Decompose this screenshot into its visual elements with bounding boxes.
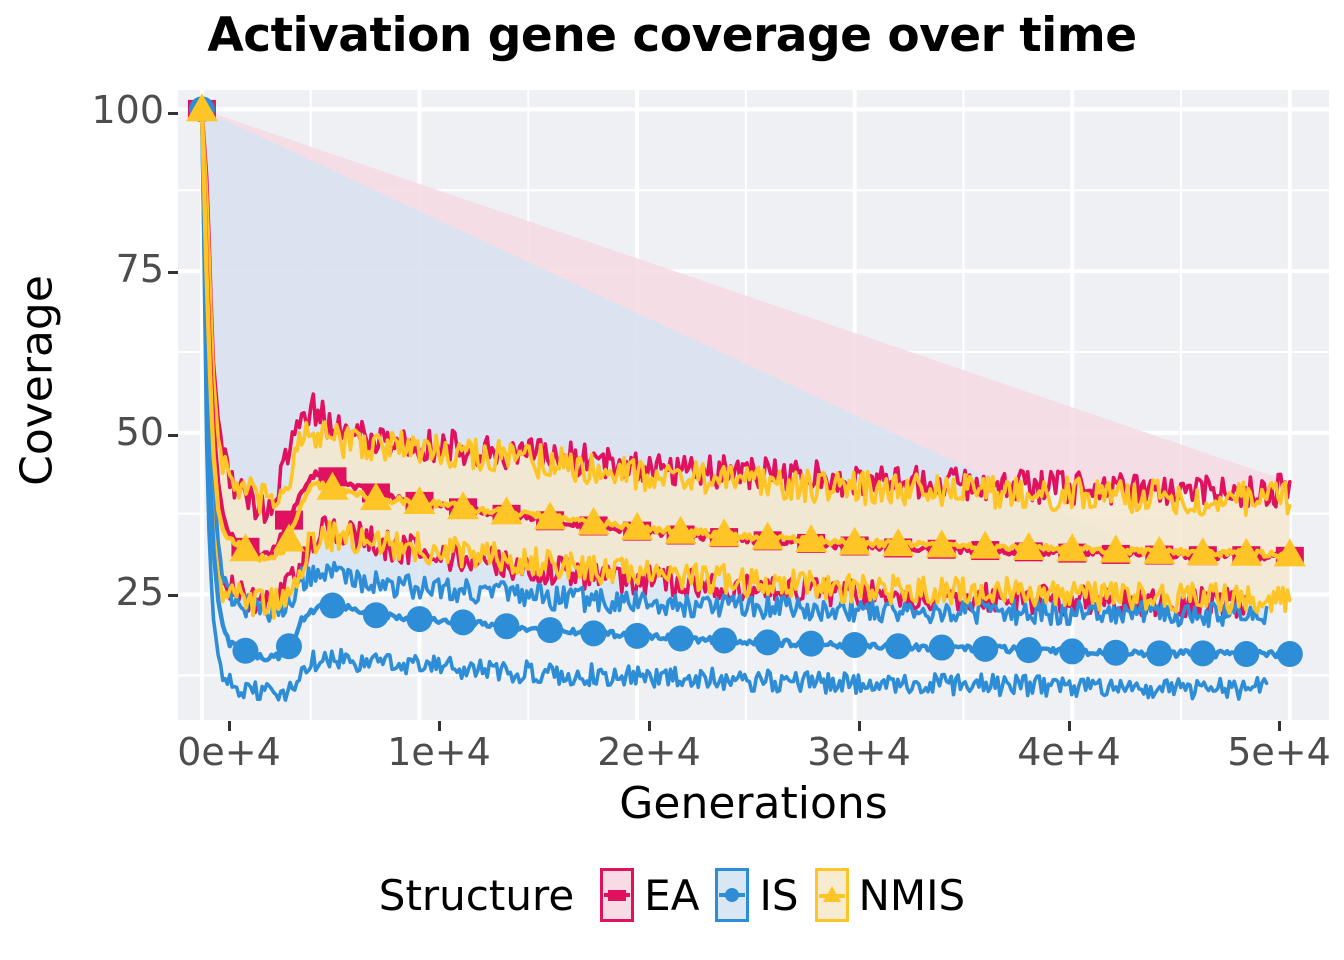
x-tick-label-4: 4e+4 <box>969 730 1169 774</box>
x-axis-title: Generations <box>178 778 1329 829</box>
x-tick-label-0: 0e+4 <box>129 730 329 774</box>
legend-label-nmis: NMIS <box>859 871 966 920</box>
data-marker-circle <box>798 631 824 657</box>
data-marker-circle <box>276 633 302 659</box>
data-marker-circle <box>668 626 694 652</box>
legend-entry-nmis[interactable]: NMIS <box>815 868 966 922</box>
data-marker-circle <box>711 627 737 653</box>
data-marker-circle <box>537 617 563 643</box>
x-tick-label-2: 2e+4 <box>549 730 749 774</box>
y-tick-mark-50 <box>168 434 178 437</box>
x-tick-label-3: 3e+4 <box>759 730 959 774</box>
y-tick-mark-25 <box>168 594 178 597</box>
x-tick-mark-0 <box>228 721 231 731</box>
data-marker-circle <box>1146 640 1172 666</box>
data-marker-circle <box>407 606 433 632</box>
data-marker-circle <box>885 633 911 659</box>
y-tick-mark-100 <box>168 112 178 115</box>
x-tick-label-1: 1e+4 <box>339 730 539 774</box>
data-marker-circle <box>319 593 345 619</box>
x-tick-label-5: 5e+4 <box>1179 730 1344 774</box>
data-marker-circle <box>624 623 650 649</box>
data-marker-circle <box>450 609 476 635</box>
x-tick-mark-3 <box>858 721 861 731</box>
x-tick-mark-1 <box>438 721 441 731</box>
legend: Structure EA IS <box>0 868 1344 922</box>
data-marker-circle <box>755 629 781 655</box>
data-marker-circle <box>1277 641 1303 667</box>
square-marker-icon <box>604 882 630 908</box>
circle-marker-icon <box>719 882 745 908</box>
legend-key-ea <box>600 868 634 922</box>
data-marker-circle <box>581 620 607 646</box>
data-marker-circle <box>494 613 520 639</box>
legend-label-is: IS <box>759 871 798 920</box>
data-marker-circle <box>842 632 868 658</box>
x-tick-mark-4 <box>1068 721 1071 731</box>
data-marker-circle <box>929 635 955 661</box>
data-marker-circle <box>363 602 389 628</box>
legend-key-is <box>715 868 749 922</box>
y-axis-title: Coverage <box>12 131 63 631</box>
legend-entry-ea[interactable]: EA <box>600 868 699 922</box>
data-marker-circle <box>232 638 258 664</box>
legend-entry-is[interactable]: IS <box>715 868 798 922</box>
data-marker-circle <box>1016 637 1042 663</box>
legend-title: Structure <box>379 871 574 920</box>
chart-root: Activation gene coverage over time 100 7… <box>0 0 1344 960</box>
y-tick-mark-75 <box>168 271 178 274</box>
x-tick-mark-2 <box>648 721 651 731</box>
triangle-marker-icon <box>819 882 845 908</box>
data-marker-circle <box>972 636 998 662</box>
legend-label-ea: EA <box>644 871 699 920</box>
data-marker-circle <box>1103 640 1129 666</box>
x-tick-mark-5 <box>1278 721 1281 731</box>
y-tick-label-100: 100 <box>24 88 164 132</box>
data-marker-circle <box>1233 641 1259 667</box>
data-marker-circle <box>1190 640 1216 666</box>
legend-key-nmis <box>815 868 849 922</box>
data-marker-circle <box>1059 638 1085 664</box>
